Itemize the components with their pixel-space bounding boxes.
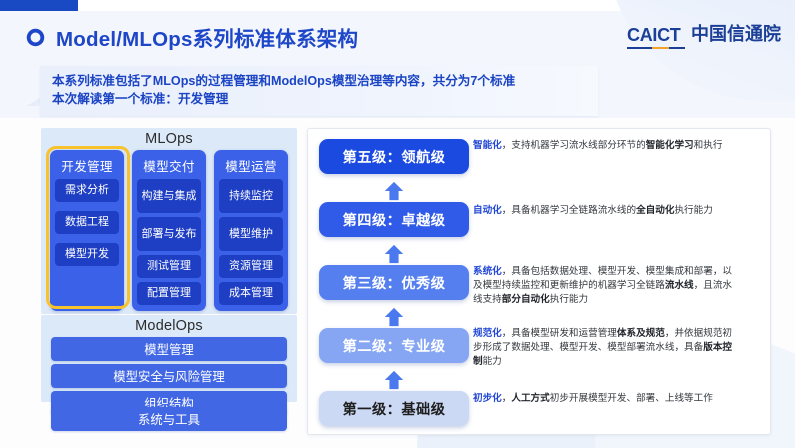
maturity-level-1[interactable]: 第一级：基础级 — [319, 391, 469, 426]
subtitle-line-2: 本次解读第一个标准：开发管理 — [52, 90, 588, 108]
maturity-level-4[interactable]: 第四级：卓越级 — [319, 202, 469, 237]
mlops-column-development[interactable]: 开发管理 需求分析 数据工程 模型开发 — [50, 150, 124, 311]
chip-model-development[interactable]: 模型开发 — [55, 243, 119, 266]
subtitle-banner: 本系列标准包括了MLOps的过程管理和ModelOps模型治理等内容，共分为7个… — [40, 66, 598, 116]
maturity-level-2[interactable]: 第二级：专业级 — [319, 328, 469, 363]
chip-build-integration[interactable]: 构建与集成 — [137, 179, 201, 213]
maturity-level-3[interactable]: 第三级：优秀级 — [319, 265, 469, 300]
logo-underline — [627, 47, 685, 50]
ring-icon — [26, 28, 45, 47]
bar-model-security-risk[interactable]: 模型安全与风险管理 — [51, 364, 287, 388]
slide-root: Model/MLOps系列标准体系架构 CAICT 中国信通院 本系列标准包括了… — [0, 0, 795, 448]
up-arrow-icon — [383, 243, 405, 265]
page-title: Model/MLOps系列标准体系架构 — [56, 22, 358, 52]
chip-deploy-release[interactable]: 部署与发布 — [137, 217, 201, 251]
top-accent-bar — [0, 0, 78, 11]
mlops-columns: 开发管理 需求分析 数据工程 模型开发 模型交付 构建与集成 部署与发布 测试管… — [41, 150, 297, 311]
mlops-column-delivery[interactable]: 模型交付 构建与集成 部署与发布 测试管理 配置管理 — [132, 150, 206, 311]
mlops-caption: MLOps — [41, 128, 297, 147]
chip-config-management[interactable]: 配置管理 — [137, 282, 201, 305]
column-title: 模型运营 — [219, 154, 283, 179]
subtitle-line-1: 本系列标准包括了MLOps的过程管理和ModelOps模型治理等内容，共分为7个… — [52, 72, 588, 90]
chip-continuous-monitoring[interactable]: 持续监控 — [219, 179, 283, 213]
caict-logo: CAICT 中国信通院 — [627, 20, 781, 49]
chip-cost-management[interactable]: 成本管理 — [219, 282, 283, 305]
maturity-panel: 第五级：领航级 第四级：卓越级 第三级：优秀级 第二级：专业级 第一级：基础级 … — [307, 128, 771, 435]
maturity-level-5[interactable]: 第五级：领航级 — [319, 139, 469, 174]
architecture-panel: MLOps ModelOps 开发管理 需求分析 数据工程 模型开发 模型交付 … — [41, 128, 297, 433]
chip-model-maintenance[interactable]: 模型维护 — [219, 217, 283, 251]
chip-resource-management[interactable]: 资源管理 — [219, 255, 283, 278]
bar-model-management[interactable]: 模型管理 — [51, 337, 287, 361]
logo-caict-word: CAICT — [627, 25, 685, 46]
up-arrow-icon — [383, 180, 405, 202]
bar-systems-and-tools[interactable]: 系统与工具 — [51, 407, 287, 431]
modelops-bars: 模型管理 模型安全与风险管理 组织结构 — [41, 337, 297, 418]
maturity-desc-5: 智能化，支持机器学习流水线部分环节的智能化学习和执行 — [473, 139, 739, 153]
column-title: 模型交付 — [137, 154, 201, 179]
maturity-desc-2: 规范化，具备模型研发和运营管理体系及规范，并依据规范初步形成了数据处理、模型开发… — [473, 327, 739, 369]
chip-data-engineering[interactable]: 数据工程 — [55, 211, 119, 234]
corner-arc-decoration — [605, 0, 795, 101]
maturity-descriptions: 智能化，支持机器学习流水线部分环节的智能化学习和执行 自动化，具备机器学习全链路… — [473, 129, 763, 434]
maturity-desc-1: 初步化，人工方式初步开展模型开发、部署、上线等工作 — [473, 392, 739, 406]
logo-caict-mark: CAICT — [627, 25, 685, 50]
logo-chinese-name: 中国信通院 — [691, 20, 781, 49]
mlops-column-operations[interactable]: 模型运营 持续监控 模型维护 资源管理 成本管理 — [214, 150, 288, 311]
maturity-desc-3: 系统化，具备包括数据处理、模型开发、模型集成和部署，以及模型持续监控和更新维护的… — [473, 265, 739, 307]
column-title: 开发管理 — [55, 154, 119, 179]
modelops-caption: ModelOps — [41, 315, 297, 334]
maturity-ladder: 第五级：领航级 第四级：卓越级 第三级：优秀级 第二级：专业级 第一级：基础级 — [319, 136, 469, 428]
chip-test-management[interactable]: 测试管理 — [137, 255, 201, 278]
up-arrow-icon — [383, 306, 405, 328]
page-title-row: Model/MLOps系列标准体系架构 — [26, 22, 358, 52]
maturity-desc-4: 自动化，具备机器学习全链路流水线的全自动化执行能力 — [473, 204, 739, 218]
chip-requirement-analysis[interactable]: 需求分析 — [55, 179, 119, 202]
up-arrow-icon — [383, 369, 405, 391]
